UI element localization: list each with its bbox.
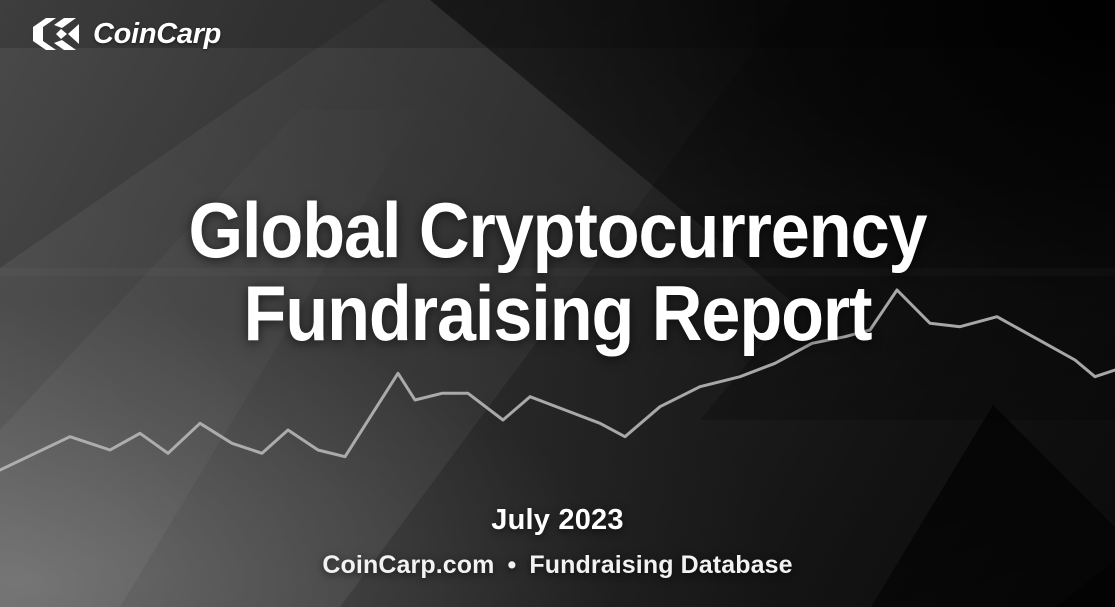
source-section: Fundraising Database [529, 551, 792, 579]
source-separator: • [502, 551, 523, 579]
report-cover-slide: CoinCarp Global Cryptocurrency Fundraisi… [0, 0, 1115, 607]
page-title: Global Cryptocurrency Fundraising Report [0, 193, 1115, 351]
title-line-2: Fundraising Report [56, 276, 1060, 351]
cover-footer: July 2023 CoinCarp.com • Fundraising Dat… [0, 502, 1115, 582]
title-line-1: Global Cryptocurrency [56, 193, 1060, 268]
source-site: CoinCarp.com [322, 551, 494, 579]
report-date: July 2023 [0, 502, 1115, 538]
report-source: CoinCarp.com • Fundraising Database [0, 549, 1115, 582]
cover-content: Global Cryptocurrency Fundraising Report… [0, 0, 1115, 607]
